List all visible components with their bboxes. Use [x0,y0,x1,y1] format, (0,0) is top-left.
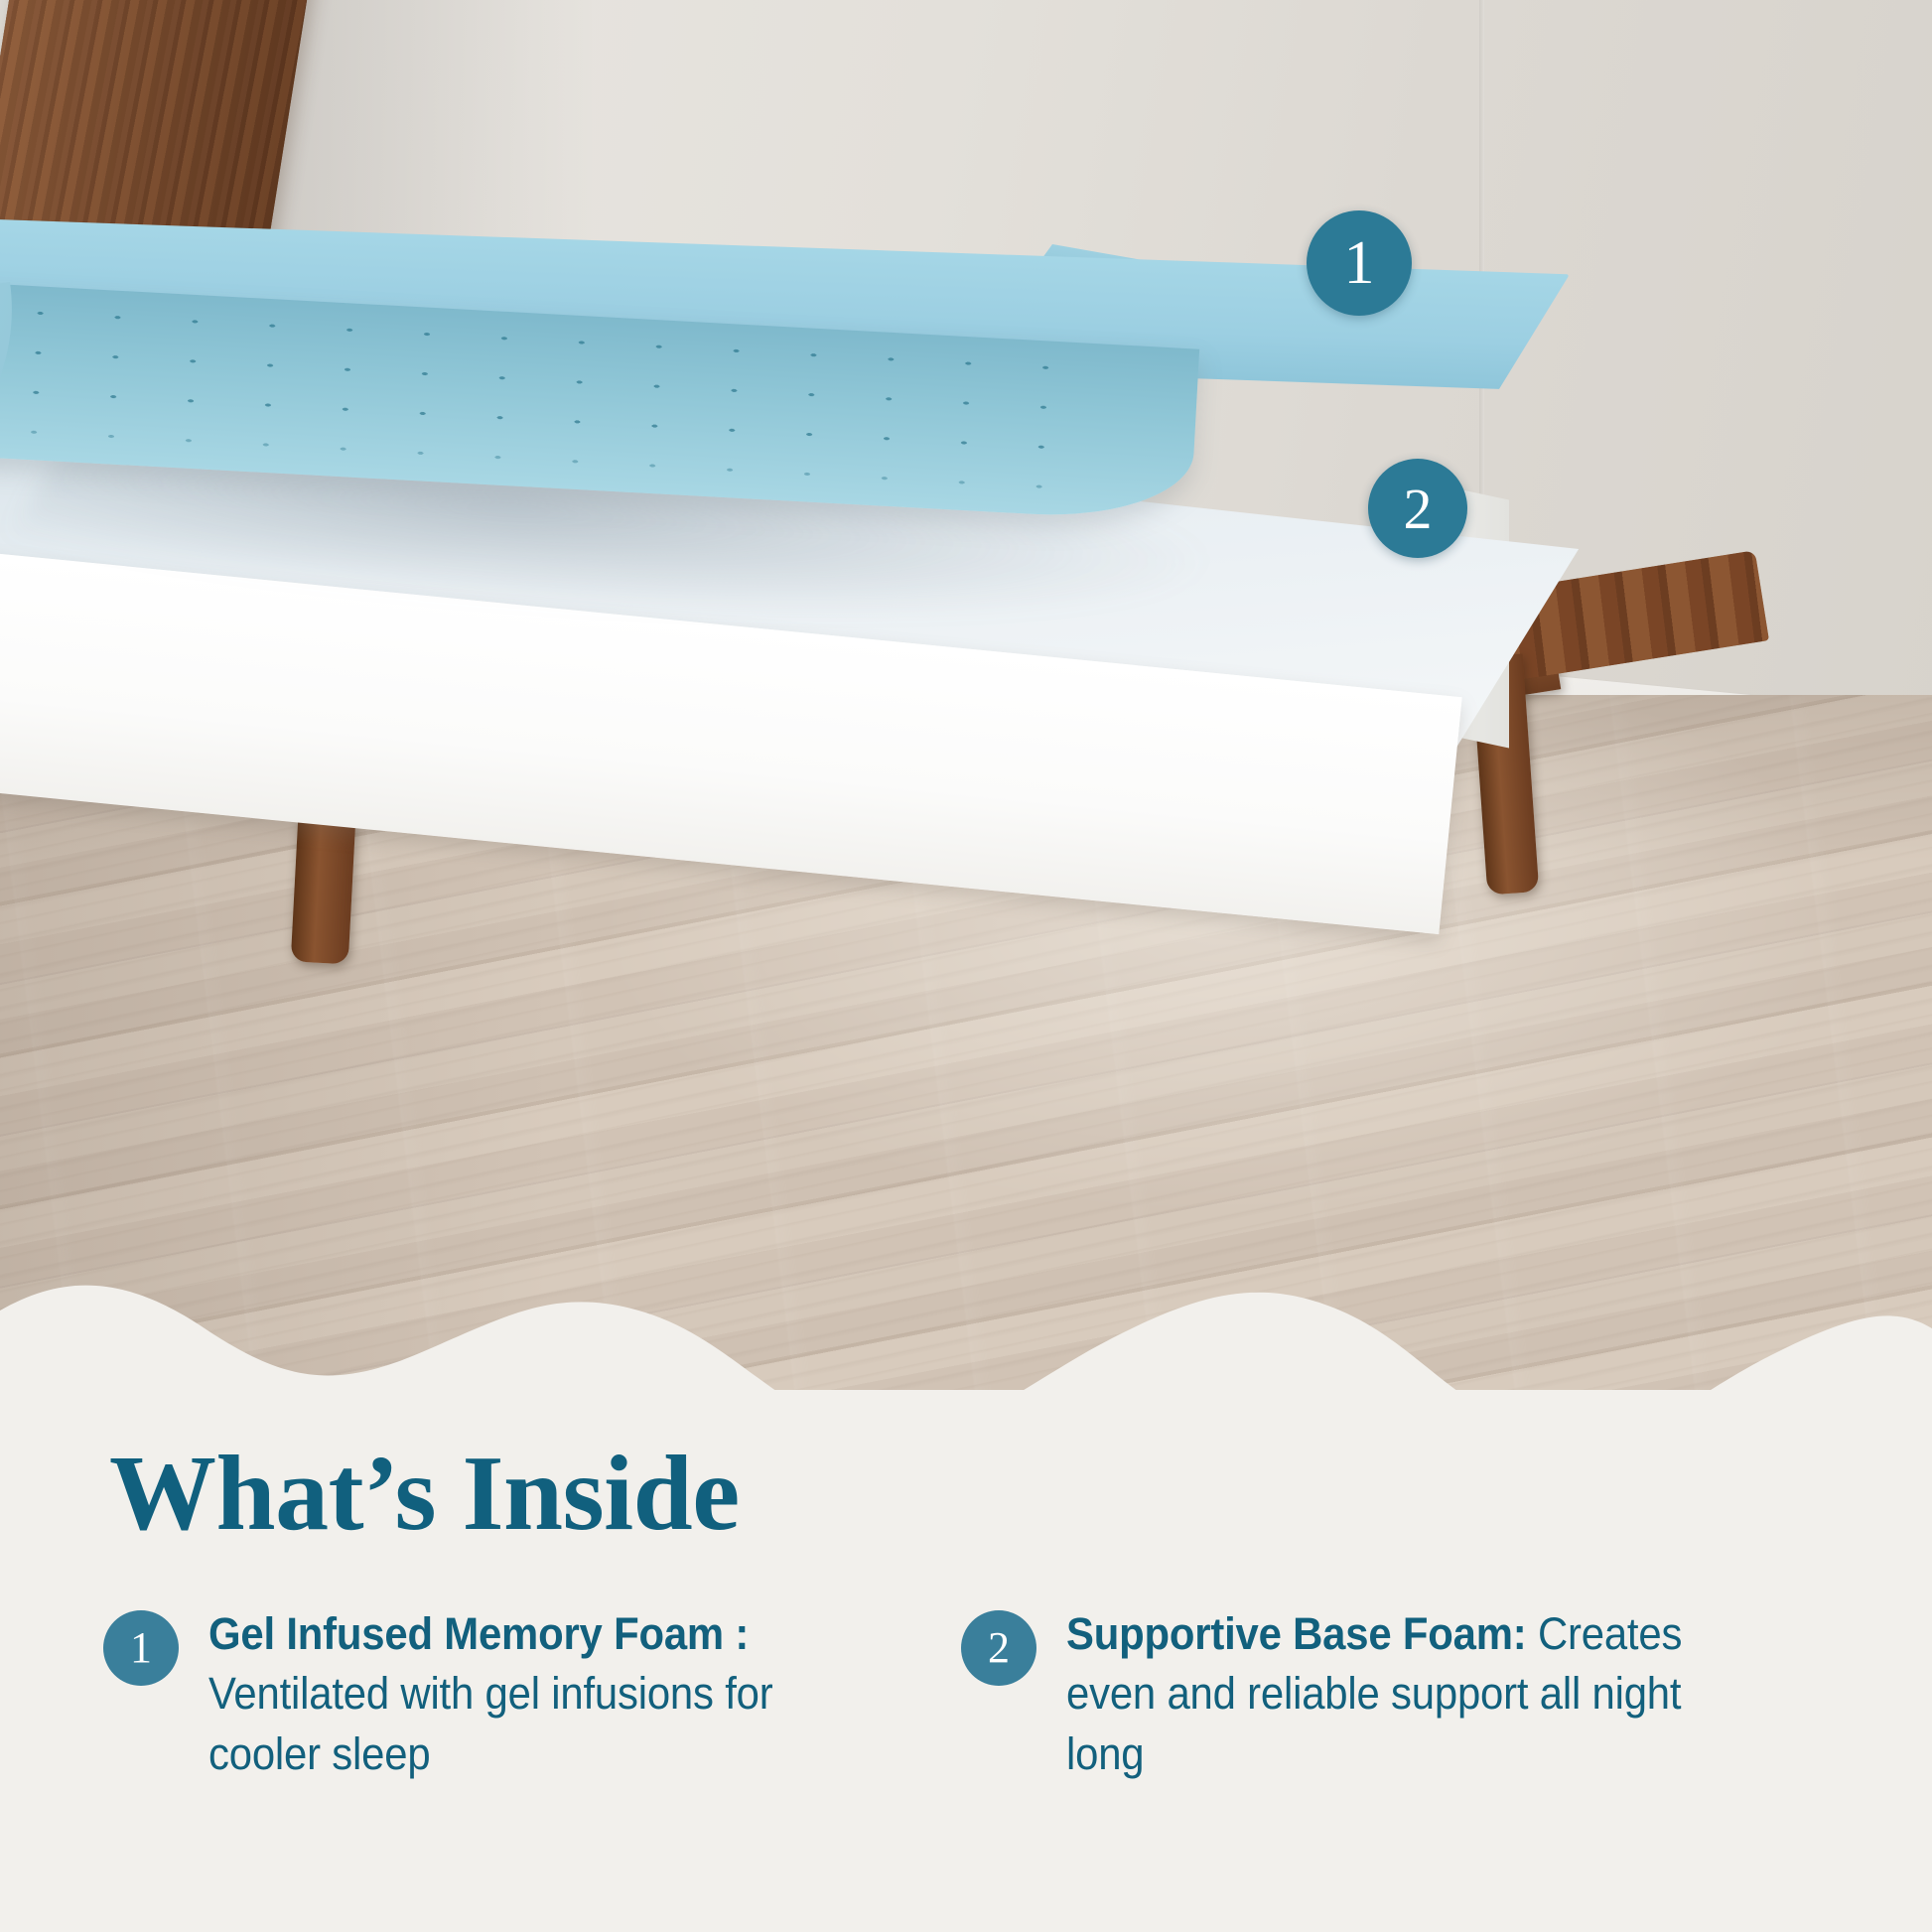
photo-marker-1[interactable]: 1 [1307,210,1412,316]
legend-body-1: Ventilated with gel infusions for cooler… [208,1668,772,1778]
legend-badge-2: 2 [961,1610,1036,1686]
legend-item-2: 2 Supportive Base Foam: Creates even and… [961,1604,1755,1784]
product-infographic: 1 2 What’s Inside 1 Gel Infused Memory F… [0,0,1932,1932]
legend-list: 1 Gel Infused Memory Foam : Ventilated w… [103,1604,1851,1784]
photo-marker-2[interactable]: 2 [1368,459,1467,558]
legend-item-1: 1 Gel Infused Memory Foam : Ventilated w… [103,1604,897,1784]
legend-label-2: Supportive Base Foam: [1066,1608,1527,1659]
legend-text-2: Supportive Base Foam: Creates even and r… [1066,1604,1707,1784]
legend-text-1: Gel Infused Memory Foam : Ventilated wit… [208,1604,849,1784]
product-photo: 1 2 [0,0,1932,1390]
page-title: What’s Inside [109,1438,740,1550]
legend-label-1: Gel Infused Memory Foam : [208,1608,749,1659]
gel-memory-foam-layer [0,208,1499,486]
info-panel: What’s Inside 1 Gel Infused Memory Foam … [0,1410,1932,1932]
legend-badge-1: 1 [103,1610,179,1686]
